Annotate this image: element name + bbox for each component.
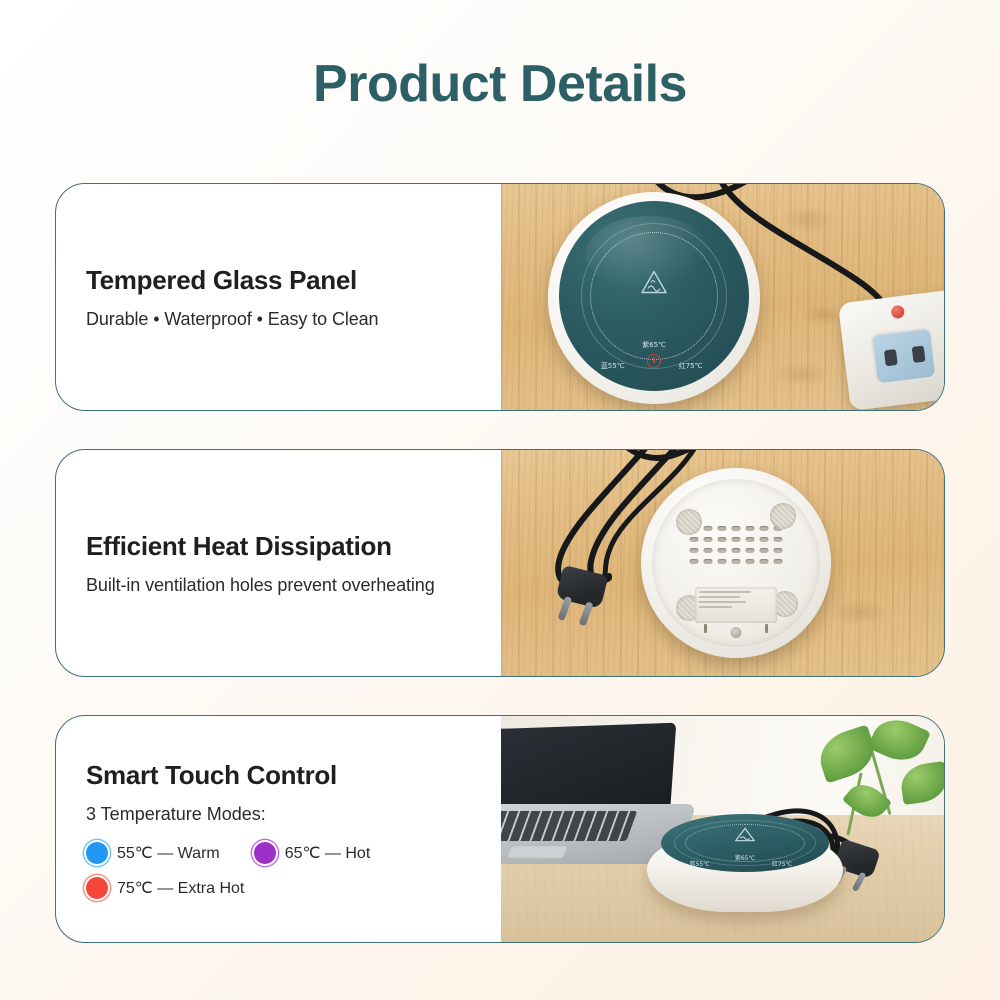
temperature-mode-row: 55℃ — Warm 65℃ — Hot: [86, 842, 501, 864]
mug-warmer-device: 紫65℃ 蓝55℃ 红75℃: [647, 814, 843, 914]
mug-warmer-device: 紫65℃ 蓝55℃ 红75℃: [548, 192, 760, 404]
temperature-mode-extra-hot[interactable]: 75℃ — Extra Hot: [86, 877, 244, 899]
product-photo-underside: [501, 450, 945, 676]
vent-hole: [704, 526, 713, 531]
vent-hole: [690, 548, 699, 553]
underside-inner-disc: [652, 479, 820, 647]
rubber-foot: [770, 503, 796, 529]
socket-indicator-icon: [891, 305, 905, 319]
vent-hole: [746, 537, 755, 542]
ventilation-hole-grid: [690, 526, 783, 566]
vent-hole: [718, 548, 727, 553]
mode-label: 55℃ — Warm: [117, 843, 220, 863]
mode-label: 75℃ — Extra Hot: [117, 878, 244, 898]
vent-hole: [718, 537, 727, 542]
vent-hole: [704, 559, 713, 564]
temperature-mode-warm[interactable]: 55℃ — Warm: [86, 842, 220, 864]
mode-indicator-purple-icon: [254, 842, 276, 864]
card-text-block: Smart Touch Control 3 Temperature Modes:…: [56, 716, 501, 942]
vent-hole: [690, 537, 699, 542]
vent-hole: [690, 559, 699, 564]
tempered-glass-panel: 紫65℃ 蓝55℃ 红75℃: [559, 201, 749, 391]
temperature-mode-hot[interactable]: 65℃ — Hot: [254, 842, 371, 864]
vent-hole: [746, 559, 755, 564]
heat-warning-triangle-icon: [734, 826, 756, 848]
vent-hole: [760, 537, 769, 542]
card-title: Efficient Heat Dissipation: [86, 531, 501, 562]
vent-hole: [704, 548, 713, 553]
vent-hole: [732, 548, 741, 553]
feature-card-tempered-glass-panel[interactable]: Tempered Glass Panel Durable • Waterproo…: [55, 183, 945, 411]
power-button-icon: [647, 354, 661, 368]
product-photo-lifestyle: 紫65℃ 蓝55℃ 红75℃: [501, 716, 945, 942]
card-title: Tempered Glass Panel: [86, 265, 501, 296]
vent-hole: [746, 526, 755, 531]
card-text-block: Tempered Glass Panel Durable • Waterproo…: [56, 184, 501, 410]
socket-hole: [912, 346, 926, 363]
vent-hole: [760, 548, 769, 553]
mode-indicator-blue-icon: [86, 842, 108, 864]
product-photo-top-view: 紫65℃ 蓝55℃ 红75℃: [501, 184, 945, 410]
card-title: Smart Touch Control: [86, 760, 501, 791]
vent-hole: [746, 548, 755, 553]
feature-card-efficient-heat-dissipation[interactable]: Efficient Heat Dissipation Built-in vent…: [55, 449, 945, 677]
vent-hole: [774, 537, 783, 542]
power-socket: [838, 289, 945, 410]
modes-label: 3 Temperature Modes:: [86, 804, 501, 825]
panel-mark-65: 紫65℃: [642, 340, 666, 350]
panel-mark-55: 蓝55℃: [690, 859, 710, 868]
page-title: Product Details: [0, 0, 1000, 113]
vent-hole: [774, 548, 783, 553]
center-screw: [731, 627, 742, 638]
vent-hole: [774, 559, 783, 564]
mode-indicator-red-icon: [86, 877, 108, 899]
vent-hole: [732, 537, 741, 542]
vent-hole: [704, 537, 713, 542]
panel-mark-65: 紫65℃: [735, 853, 755, 862]
temperature-mode-list: 55℃ — Warm 65℃ — Hot 75℃ — Extra Hot: [86, 842, 501, 899]
card-subtitle: Durable • Waterproof • Easy to Clean: [86, 309, 501, 330]
feature-card-smart-touch-control[interactable]: Smart Touch Control 3 Temperature Modes:…: [55, 715, 945, 943]
socket-port: [870, 326, 938, 385]
underside-slot: [704, 624, 707, 633]
vent-hole: [760, 559, 769, 564]
card-text-block: Efficient Heat Dissipation Built-in vent…: [56, 450, 501, 676]
panel-mark-75: 红75℃: [679, 361, 703, 371]
vent-hole: [718, 559, 727, 564]
socket-hole: [884, 349, 898, 366]
underside-slot: [765, 624, 768, 633]
mug-warmer-underside: [641, 468, 831, 658]
rating-label-plate: [695, 587, 777, 623]
vent-hole: [760, 526, 769, 531]
vent-hole: [732, 526, 741, 531]
panel-mark-75: 红75℃: [772, 859, 792, 868]
tempered-glass-panel: 紫65℃ 蓝55℃ 红75℃: [661, 814, 829, 872]
vent-hole: [718, 526, 727, 531]
rubber-foot: [676, 509, 702, 535]
feature-card-list: Tempered Glass Panel Durable • Waterproo…: [55, 183, 945, 981]
panel-mark-55: 蓝55℃: [601, 361, 625, 371]
vent-hole: [732, 559, 741, 564]
mode-label: 65℃ — Hot: [285, 843, 371, 863]
card-subtitle: Built-in ventilation holes prevent overh…: [86, 575, 501, 596]
heat-warning-triangle-icon: [640, 269, 668, 300]
temperature-mode-row: 75℃ — Extra Hot: [86, 877, 501, 899]
